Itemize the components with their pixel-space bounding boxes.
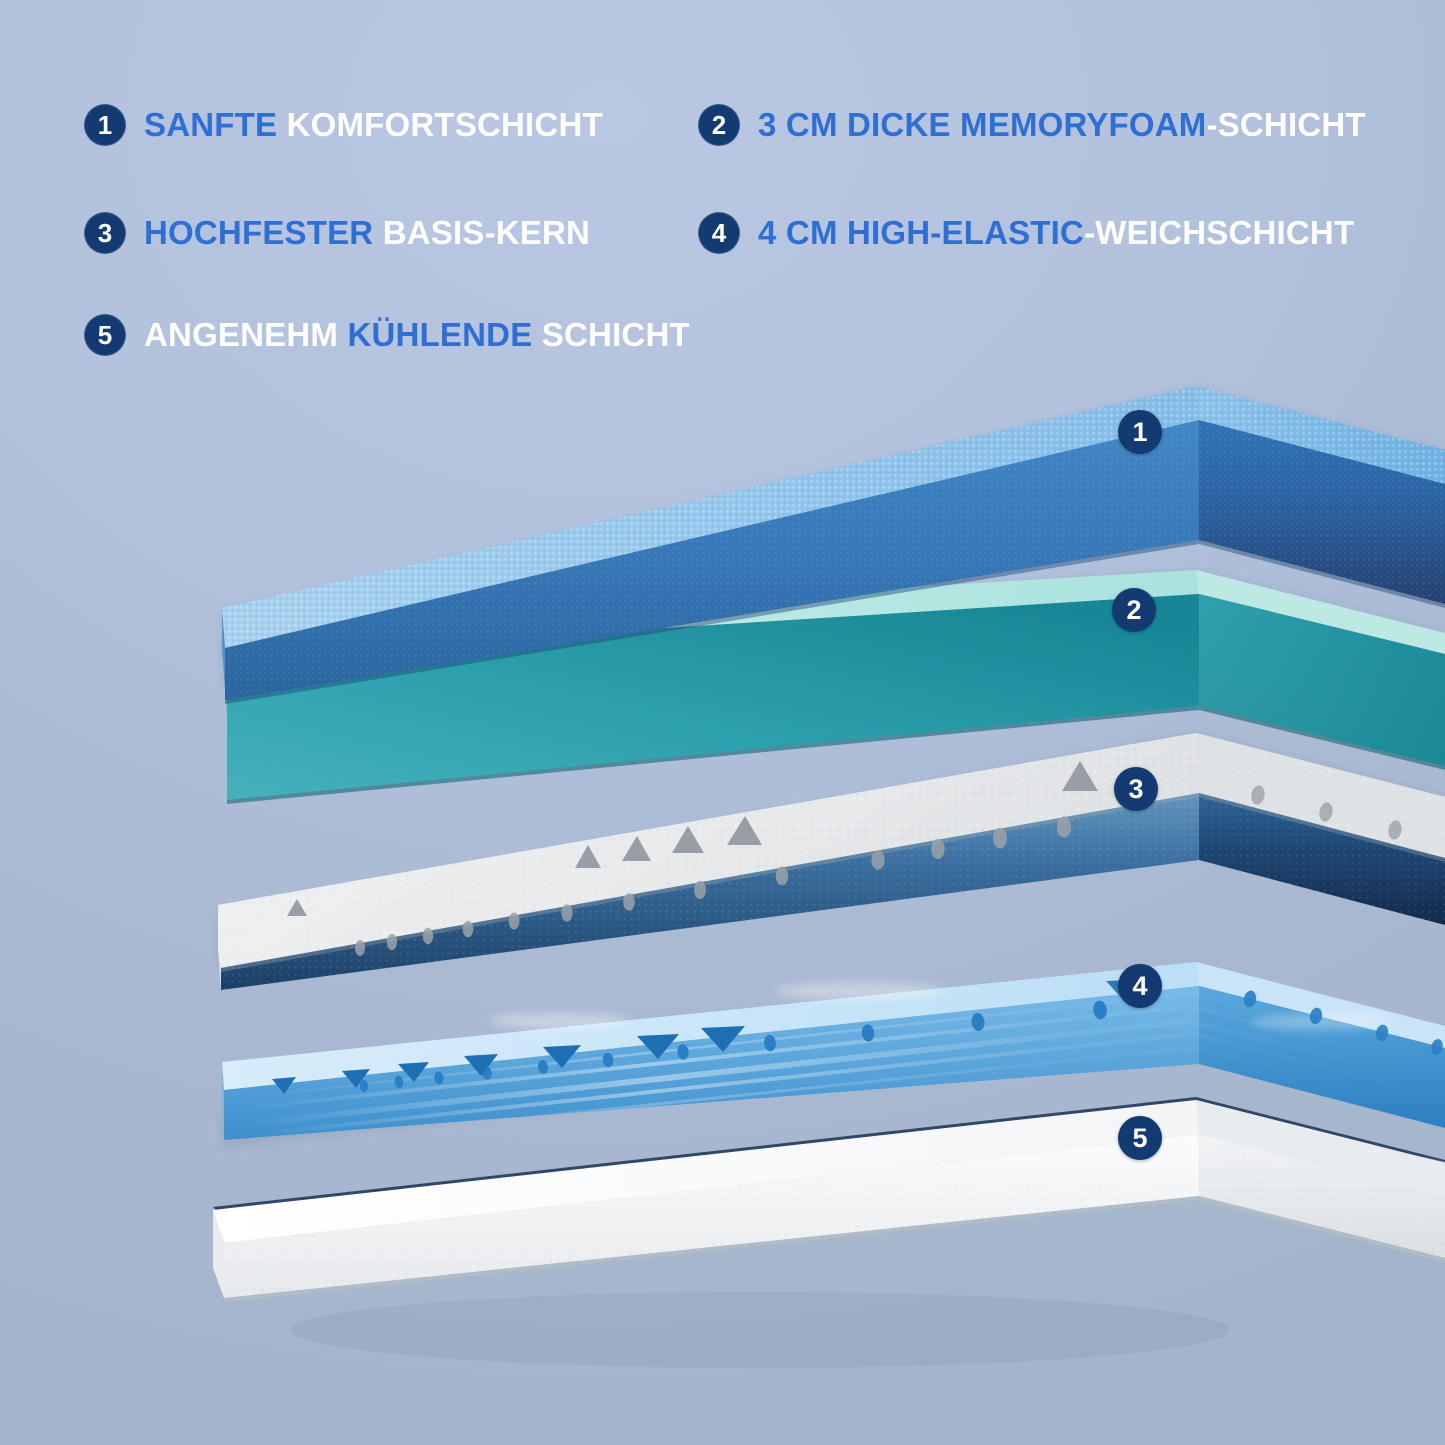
legend-label-5-post: SCHICHT [532,316,689,353]
legend-label-1: SANFTE KOMFORTSCHICHT [144,106,603,144]
layer-badge-3[interactable]: 3 [1114,767,1158,811]
legend-badge-4: 4 [698,212,740,254]
layer-badge-2[interactable]: 2 [1112,588,1156,632]
legend-label-4: 4 CM HIGH-ELASTIC-WEICHSCHICHT [758,214,1354,252]
legend-label-5: ANGENEHM KÜHLENDE SCHICHT [144,316,690,354]
legend-label-1-accent: SANFTE [144,106,277,143]
legend-item-4: 4 4 CM HIGH-ELASTIC-WEICHSCHICHT [698,212,1354,254]
legend-label-3: HOCHFESTER BASIS-KERN [144,214,590,252]
legend-label-5-accent: KÜHLENDE [347,316,532,353]
legend-label-5-pre: ANGENEHM [144,316,347,353]
legend-item-2: 2 3 CM DICKE MEMORYFOAM-SCHICHT [698,104,1366,146]
legend-badge-5: 5 [84,314,126,356]
legend: 1 SANFTE KOMFORTSCHICHT 2 3 CM DICKE MEM… [0,0,1445,380]
legend-badge-3: 3 [84,212,126,254]
legend-label-2-accent: 3 CM DICKE MEMORYFOAM [758,106,1206,143]
legend-label-2-rest: -SCHICHT [1206,106,1365,143]
legend-item-5: 5 ANGENEHM KÜHLENDE SCHICHT [84,314,690,356]
legend-label-4-accent: 4 CM HIGH-ELASTIC [758,214,1084,251]
layer-badge-5[interactable]: 5 [1118,1116,1162,1160]
legend-label-4-rest: -WEICHSCHICHT [1084,214,1354,251]
layer-badge-4[interactable]: 4 [1118,964,1162,1008]
legend-label-2: 3 CM DICKE MEMORYFOAM-SCHICHT [758,106,1366,144]
legend-badge-2: 2 [698,104,740,146]
mattress-layers-infographic: 1 2 3 4 5 1 SANFTE KOMFORTSCHICHT 2 3 CM… [0,0,1445,1445]
legend-badge-1: 1 [84,104,126,146]
legend-item-3: 3 HOCHFESTER BASIS-KERN [84,212,590,254]
legend-label-3-accent: HOCHFESTER [144,214,373,251]
legend-item-1: 1 SANFTE KOMFORTSCHICHT [84,104,603,146]
layer-5-shape [213,1097,1445,1368]
layer-badge-1[interactable]: 1 [1118,410,1162,454]
legend-label-3-rest: BASIS-KERN [373,214,590,251]
legend-label-1-rest: KOMFORTSCHICHT [277,106,603,143]
